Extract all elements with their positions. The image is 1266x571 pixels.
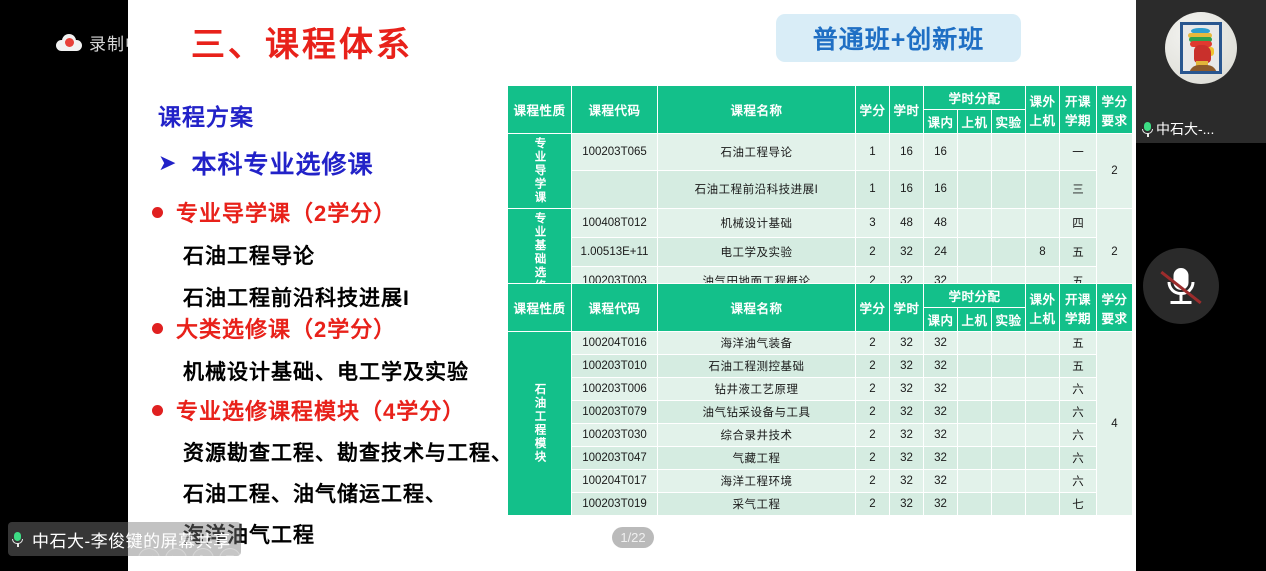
cell-lab — [958, 401, 992, 424]
bullet-group-2: 大类选修课（2学分） 机械设计基础、电工学及实验 — [152, 312, 469, 386]
cell-lab — [958, 134, 992, 171]
cell-in: 32 — [924, 493, 958, 516]
table-row: 石油工程前沿科技进展I11616三 — [508, 171, 1133, 208]
cell-out — [1026, 171, 1060, 208]
cell-in: 24 — [924, 237, 958, 266]
cell-in: 32 — [924, 424, 958, 447]
page-indicator: 1/22 — [612, 527, 654, 548]
cell-in: 32 — [924, 332, 958, 355]
cell-code: 100203T006 — [572, 378, 658, 401]
cell-credit: 1 — [856, 134, 890, 171]
sub-heading-label: 本科专业选修课 — [191, 145, 373, 181]
cell-credit: 2 — [856, 355, 890, 378]
cell-lab — [958, 332, 992, 355]
bullet-dot-icon — [152, 405, 163, 416]
table-row: 100203T010石油工程测控基础23232五 — [508, 355, 1133, 378]
participant-name-row: 中石大-... — [1142, 119, 1214, 139]
course-category-label: 专业导学课 — [508, 134, 572, 209]
cell-code: 100203T010 — [572, 355, 658, 378]
cell-name: 油气钻采设备与工具 — [658, 401, 856, 424]
cell-credit: 2 — [856, 332, 890, 355]
cell-out: 8 — [1026, 237, 1060, 266]
bullet-line: 机械设计基础、电工学及实验 — [183, 356, 469, 386]
participant-video-tile[interactable]: 中石大-... — [1136, 0, 1266, 143]
cell-out — [1026, 447, 1060, 470]
th-name: 课程名称 — [658, 86, 856, 134]
cell-term: 六 — [1060, 401, 1097, 424]
cell-hours: 32 — [890, 493, 924, 516]
th-term: 开课 学期 — [1060, 86, 1097, 134]
bullet-heading: 专业导学课（2学分） — [152, 196, 410, 228]
share-controls: ◁▷✎▣⌕⋯ — [138, 548, 295, 570]
cell-credit: 3 — [856, 208, 890, 237]
th-credit: 学分 — [856, 86, 890, 134]
course-table-1-body: 专业导学课100203T065石油工程导论11616一2石油工程前沿科技进展I1… — [508, 134, 1133, 297]
th-outside-lab: 课外 上机 — [1026, 86, 1060, 134]
cell-exp — [992, 208, 1026, 237]
bullet-line: 石油工程、油气储运工程、 — [183, 478, 513, 508]
cell-lab — [958, 208, 992, 237]
bullet-line: 资源勘查工程、勘查技术与工程、 — [183, 437, 513, 467]
cell-in: 32 — [924, 378, 958, 401]
table-row: 专业导学课100203T065石油工程导论11616一2 — [508, 134, 1133, 171]
annotate-icon[interactable]: ✎ — [192, 548, 214, 570]
table-row: 100203T006钻井液工艺原理23232六 — [508, 378, 1133, 401]
meeting-screen: 录制中 三、课程体系 普通班+创新班 课程方案 ➤ 本科专业选修课 专业导学课（… — [0, 0, 1266, 571]
cell-out — [1026, 355, 1060, 378]
play-icon[interactable]: ▷ — [165, 548, 187, 570]
table-row: 专业基础选修100408T012机械设计基础34848四2 — [508, 208, 1133, 237]
cell-name: 气藏工程 — [658, 447, 856, 470]
cell-out — [1026, 134, 1060, 171]
cell-in: 48 — [924, 208, 958, 237]
cell-name: 综合录井技术 — [658, 424, 856, 447]
cell-name: 钻井液工艺原理 — [658, 378, 856, 401]
table-row: 100204T017海洋工程环境23232六 — [508, 470, 1133, 493]
cell-out — [1026, 470, 1060, 493]
cell-credit: 2 — [856, 378, 890, 401]
cell-code: 100203T019 — [572, 493, 658, 516]
cell-credit: 2 — [856, 447, 890, 470]
table-row: 100203T047气藏工程23232六 — [508, 447, 1133, 470]
cell-hours: 48 — [890, 208, 924, 237]
cell-code: 100204T016 — [572, 332, 658, 355]
participant-name: 中石大-... — [1156, 119, 1214, 139]
cell-name: 采气工程 — [658, 493, 856, 516]
cell-exp — [992, 447, 1026, 470]
cell-hours: 32 — [890, 401, 924, 424]
cell-exp — [992, 378, 1026, 401]
cell-code: 100203T047 — [572, 447, 658, 470]
cell-name: 石油工程测控基础 — [658, 355, 856, 378]
cell-hours: 32 — [890, 355, 924, 378]
cell-in: 32 — [924, 355, 958, 378]
cell-code: 100204T017 — [572, 470, 658, 493]
bullet-dot-icon — [152, 207, 163, 218]
cell-term: 一 — [1060, 134, 1097, 171]
cell-credit: 2 — [856, 470, 890, 493]
microphone-icon — [12, 532, 23, 547]
cell-in: 32 — [924, 401, 958, 424]
th-alloc-lab: 上机 — [958, 308, 992, 332]
th-credit: 学分 — [856, 284, 890, 332]
cell-exp — [992, 355, 1026, 378]
cell-lab — [958, 237, 992, 266]
table-row: 100203T079油气钻采设备与工具23232六 — [508, 401, 1133, 424]
th-hours: 学时 — [890, 86, 924, 134]
cell-lab — [958, 355, 992, 378]
cell-credit-requirement: 2 — [1097, 134, 1133, 209]
bullet-line: 石油工程导论 — [183, 240, 410, 270]
th-term: 开课 学期 — [1060, 284, 1097, 332]
th-name: 课程名称 — [658, 284, 856, 332]
sub-heading: ➤ 本科专业选修课 — [158, 145, 373, 181]
cell-credit: 2 — [856, 424, 890, 447]
layout-icon[interactable]: ▣ — [219, 548, 241, 570]
cell-exp — [992, 470, 1026, 493]
cell-term: 五 — [1060, 332, 1097, 355]
cell-exp — [992, 237, 1026, 266]
cell-term: 五 — [1060, 355, 1097, 378]
table-row: 1.00513E+11电工学及实验232248五 — [508, 237, 1133, 266]
cell-hours: 32 — [890, 332, 924, 355]
prev-icon[interactable]: ◁ — [138, 548, 160, 570]
cell-exp — [992, 424, 1026, 447]
page-title: 三、课程体系 — [191, 17, 413, 66]
cell-exp — [992, 171, 1026, 208]
cell-exp — [992, 493, 1026, 516]
cell-out — [1026, 208, 1060, 237]
cell-in: 16 — [924, 171, 958, 208]
th-credit-req: 学分 要求 — [1097, 284, 1133, 332]
table-row: 100203T030综合录井技术23232六 — [508, 424, 1133, 447]
th-nature: 课程性质 — [508, 86, 572, 134]
cell-code — [572, 171, 658, 208]
cell-credit: 2 — [856, 493, 890, 516]
shared-slide: 三、课程体系 普通班+创新班 课程方案 ➤ 本科专业选修课 专业导学课（2学分）… — [128, 0, 1136, 571]
avatar-artwork-icon — [1180, 22, 1222, 74]
cell-in: 32 — [924, 447, 958, 470]
cell-term: 六 — [1060, 447, 1097, 470]
th-hours: 学时 — [890, 284, 924, 332]
cell-term: 五 — [1060, 237, 1097, 266]
cell-term: 三 — [1060, 171, 1097, 208]
cell-credit: 2 — [856, 237, 890, 266]
cell-credit: 2 — [856, 401, 890, 424]
th-alloc-in: 课内 — [924, 110, 958, 134]
cell-hours: 32 — [890, 470, 924, 493]
cell-exp — [992, 332, 1026, 355]
bullet-title: 专业选修课程模块（4学分） — [176, 394, 465, 426]
cell-name: 海洋油气装备 — [658, 332, 856, 355]
course-table-2-body: 石油工程模块100204T016海洋油气装备23232五4100203T010石… — [508, 332, 1133, 516]
cell-term: 四 — [1060, 208, 1097, 237]
cell-credit-requirement: 4 — [1097, 332, 1133, 516]
cell-name: 石油工程前沿科技进展I — [658, 171, 856, 208]
cell-in: 16 — [924, 134, 958, 171]
th-alloc-exp: 实验 — [992, 308, 1026, 332]
cell-name: 海洋工程环境 — [658, 470, 856, 493]
cell-code: 100203T065 — [572, 134, 658, 171]
table-row: 石油工程模块100204T016海洋油气装备23232五4 — [508, 332, 1133, 355]
microphone-muted-icon[interactable] — [1143, 248, 1219, 324]
th-alloc-exp: 实验 — [992, 110, 1026, 134]
more-icon[interactable]: ⋯ — [273, 548, 295, 570]
bullet-group-1: 专业导学课（2学分） 石油工程导论 石油工程前沿科技进展I — [152, 196, 410, 312]
cell-hours: 16 — [890, 134, 924, 171]
cell-exp — [992, 401, 1026, 424]
cell-hours: 32 — [890, 237, 924, 266]
cell-out — [1026, 332, 1060, 355]
th-alloc-lab: 上机 — [958, 110, 992, 134]
cell-lab — [958, 424, 992, 447]
cell-term: 七 — [1060, 493, 1097, 516]
table-row: 100203T019采气工程23232七 — [508, 493, 1133, 516]
bullet-title: 大类选修课（2学分） — [176, 312, 396, 344]
section-heading: 课程方案 — [158, 98, 254, 132]
bullet-dot-icon — [152, 323, 163, 334]
cell-credit: 1 — [856, 171, 890, 208]
cell-code: 100408T012 — [572, 208, 658, 237]
bullet-heading: 专业选修课程模块（4学分） — [152, 394, 513, 426]
th-code: 课程代码 — [572, 284, 658, 332]
cell-exp — [992, 134, 1026, 171]
course-table-2: 课程性质 课程代码 课程名称 学分 学时 学时分配 课外 上机 开课 学期 — [507, 283, 1133, 516]
cell-code: 100203T030 — [572, 424, 658, 447]
th-credit-req: 学分 要求 — [1097, 86, 1133, 134]
cloud-record-icon — [56, 34, 82, 51]
cell-lab — [958, 447, 992, 470]
avatar — [1165, 12, 1237, 84]
cell-out — [1026, 378, 1060, 401]
cell-name: 电工学及实验 — [658, 237, 856, 266]
cell-name: 石油工程导论 — [658, 134, 856, 171]
cell-hours: 32 — [890, 447, 924, 470]
cell-in: 32 — [924, 470, 958, 493]
course-table-1: 课程性质 课程代码 课程名称 学分 学时 学时分配 课外 上机 开课 学期 — [507, 85, 1133, 297]
cell-out — [1026, 424, 1060, 447]
bullet-title: 专业导学课（2学分） — [176, 196, 396, 228]
class-type-badge: 普通班+创新班 — [776, 14, 1021, 62]
cell-lab — [958, 493, 992, 516]
th-alloc-group: 学时分配 — [924, 86, 1026, 110]
th-outside-lab: 课外 上机 — [1026, 284, 1060, 332]
bullet-heading: 大类选修课（2学分） — [152, 312, 469, 344]
th-alloc-group: 学时分配 — [924, 284, 1026, 308]
microphone-icon — [1142, 122, 1153, 137]
cell-term: 六 — [1060, 424, 1097, 447]
cell-hours: 32 — [890, 424, 924, 447]
zoom-icon[interactable]: ⌕ — [246, 548, 268, 570]
bullet-line: 石油工程前沿科技进展I — [183, 282, 410, 312]
th-alloc-in: 课内 — [924, 308, 958, 332]
cell-out — [1026, 493, 1060, 516]
cell-hours: 16 — [890, 171, 924, 208]
cell-lab — [958, 378, 992, 401]
arrow-right-icon: ➤ — [158, 150, 177, 176]
course-category-label: 石油工程模块 — [508, 332, 572, 516]
cell-hours: 32 — [890, 378, 924, 401]
cell-term: 六 — [1060, 470, 1097, 493]
cell-code: 100203T079 — [572, 401, 658, 424]
cell-name: 机械设计基础 — [658, 208, 856, 237]
cell-lab — [958, 171, 992, 208]
cell-out — [1026, 401, 1060, 424]
cell-code: 1.00513E+11 — [572, 237, 658, 266]
cell-term: 六 — [1060, 378, 1097, 401]
th-nature: 课程性质 — [508, 284, 572, 332]
th-code: 课程代码 — [572, 86, 658, 134]
cell-lab — [958, 470, 992, 493]
